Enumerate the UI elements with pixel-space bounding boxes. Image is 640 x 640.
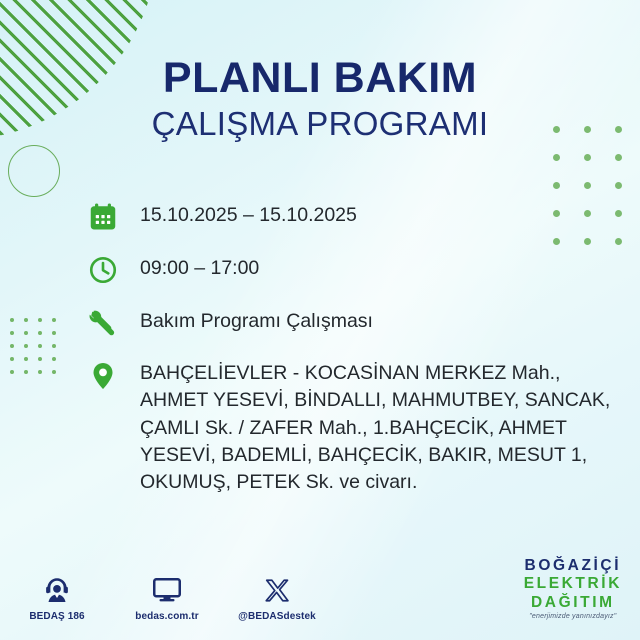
address-value: BAHÇELİEVLER - KOCASİNAN MERKEZ Mah., AH… [120, 359, 614, 496]
dot [52, 370, 56, 374]
headset-agent-icon [42, 573, 72, 605]
address-line: OKUMUŞ, PETEK Sk. ve civarı. [140, 469, 614, 496]
brand-line-bogazici: BOĞAZİÇİ [524, 558, 622, 574]
monitor-icon [152, 573, 182, 605]
dot [38, 344, 42, 348]
address-line: AHMET YESEVİ, BİNDALLI, MAHMUTBEY, SANCA… [140, 387, 614, 414]
address-line: ÇAMLI Sk. / ZAFER Mah., 1.BAHÇECİK, AHME… [140, 415, 614, 442]
dot [10, 357, 14, 361]
dot [615, 238, 622, 245]
clock-icon [86, 253, 120, 287]
contact-label: bedas.com.tr [135, 611, 198, 622]
title-line-secondary: ÇALIŞMA PROGRAMI [0, 107, 640, 142]
brand-line-elektrik: ELEKTRİK [524, 576, 622, 592]
dot [52, 318, 56, 322]
dot [553, 154, 560, 161]
dot [38, 318, 42, 322]
dot [584, 182, 591, 189]
address-line: YESEVİ, BADEMLİ, BAHÇECİK, BAKIR, MESUT … [140, 442, 614, 469]
dot [615, 182, 622, 189]
dot [24, 370, 28, 374]
dot [10, 370, 14, 374]
detail-row-work-type: Bakım Programı Çalışması [86, 306, 614, 340]
dot [52, 331, 56, 335]
dot [52, 357, 56, 361]
dot [24, 331, 28, 335]
detail-row-address: BAHÇELİEVLER - KOCASİNAN MERKEZ Mah., AH… [86, 359, 614, 496]
dot [553, 182, 560, 189]
dot-grid-left-decoration [10, 318, 56, 374]
time-range-value: 09:00 – 17:00 [120, 253, 614, 279]
title-line-primary: PLANLI BAKIM [0, 56, 640, 101]
bedas-brand-logo: BOĞAZİÇİ ELEKTRİK DAĞITIM "enerjimizde y… [524, 558, 622, 621]
footer-contacts: BEDAŞ 186 bedas.com.tr @BEDASdestek [18, 573, 316, 622]
dot [10, 331, 14, 335]
address-line: BAHÇELİEVLER - KOCASİNAN MERKEZ Mah., [140, 360, 614, 387]
dot [38, 331, 42, 335]
location-pin-icon [86, 359, 120, 393]
dot [24, 344, 28, 348]
work-type-value: Bakım Programı Çalışması [120, 306, 614, 332]
planned-maintenance-poster: PLANLI BAKIM ÇALIŞMA PROGRAMI 15.10.2025… [0, 0, 640, 640]
circle-outline-decoration [8, 145, 60, 197]
detail-row-date: 15.10.2025 – 15.10.2025 [86, 200, 614, 234]
dot [584, 154, 591, 161]
dot [24, 318, 28, 322]
dot [10, 318, 14, 322]
brand-tagline: "enerjimizde yanınızdayız" [524, 613, 622, 620]
brand-line-dagitim: DAĞITIM [524, 595, 622, 611]
calendar-icon [86, 200, 120, 234]
detail-row-time: 09:00 – 17:00 [86, 253, 614, 287]
dot [38, 357, 42, 361]
dot [615, 154, 622, 161]
dot [24, 357, 28, 361]
x-twitter-icon [264, 573, 291, 605]
dot [38, 370, 42, 374]
dot [615, 210, 622, 217]
dot [10, 344, 14, 348]
dot [52, 344, 56, 348]
contact-x-social[interactable]: @BEDASdestek [238, 573, 316, 622]
page-title: PLANLI BAKIM ÇALIŞMA PROGRAMI [0, 56, 640, 141]
tools-icon [86, 306, 120, 340]
contact-website[interactable]: bedas.com.tr [128, 573, 206, 622]
date-range-value: 15.10.2025 – 15.10.2025 [120, 200, 614, 226]
contact-label: BEDAŞ 186 [29, 611, 84, 622]
contact-label: @BEDASdestek [238, 611, 316, 622]
contact-call-center[interactable]: BEDAŞ 186 [18, 573, 96, 622]
maintenance-details-list: 15.10.2025 – 15.10.2025 09:00 – 17:00 Ba… [86, 200, 614, 496]
